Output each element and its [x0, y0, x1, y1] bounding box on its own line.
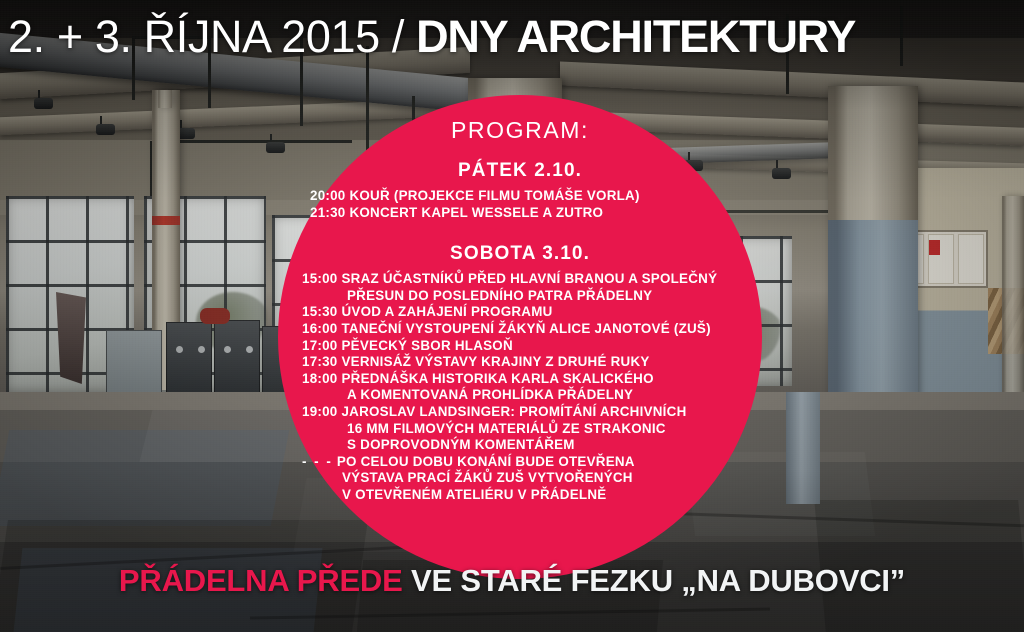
program-item-cont: S DOPROVODNÝM KOMENTÁŘEM	[302, 437, 740, 454]
red-object	[200, 308, 230, 324]
program-items-friday: 20:00 KOUŘ (PROJEKCE FILMU TOMÁŠE VORLA)…	[310, 188, 740, 221]
program-items-saturday: 15:00 SRAZ ÚČASTNÍKŮ PŘED HLAVNÍ BRANOU …	[302, 271, 740, 503]
cabinet-knob	[198, 346, 205, 353]
venue-location: VE STARÉ FEZKU „NA DUBOVCI”	[403, 563, 905, 598]
note-line: VÝSTAVA PRACÍ ŽÁKŮ ZUŠ VYTVOŘENÝCH	[302, 470, 740, 487]
program-item: 15:00 SRAZ ÚČASTNÍKŮ PŘED HLAVNÍ BRANOU …	[302, 271, 740, 288]
ceiling-lamp	[96, 124, 115, 135]
day-title-friday: PÁTEK 2.10.	[300, 160, 740, 182]
ceiling-lamp	[772, 168, 791, 179]
vitrine-red-notice	[929, 240, 940, 255]
program-item-cont: 16 MM FILMOVÝCH MATERIÁLŮ ZE STRAKONIC	[302, 421, 740, 438]
concrete-column	[158, 90, 172, 108]
concrete-column	[828, 86, 918, 406]
cabinet-knob	[224, 346, 231, 353]
program-item-cont: A KOMENTOVANÁ PROHLÍDKA PŘÁDELNY	[302, 387, 740, 404]
note-line: V OTEVŘENÉM ATELIÉRU V PŘÁDELNĚ	[302, 487, 740, 504]
program-item: 16:00 TANEČNÍ VYSTOUPENÍ ŽÁKYŇ ALICE JAN…	[302, 321, 740, 338]
program-item: 18:00 PŘEDNÁŠKA HISTORIKA KARLA SKALICKÉ…	[302, 371, 740, 388]
program-item-cont: PŘESUN DO POSLEDNÍHO PATRA PŘÁDELNY	[302, 288, 740, 305]
cabinet-knob	[176, 346, 183, 353]
program-item: 19:00 JAROSLAV LANDSINGER: PROMÍTÁNÍ ARC…	[302, 404, 740, 421]
program-item: 17:00 PĚVECKÝ SBOR HLASOŇ	[302, 338, 740, 355]
column-red-band	[152, 216, 180, 225]
day-title-saturday: SOBOTA 3.10.	[300, 243, 740, 265]
program-item: 21:30 KONCERT KAPEL WESSELE A ZUTRO	[310, 205, 740, 222]
hanging-cloth	[56, 292, 86, 384]
headline-date: 2. + 3. ŘÍJNA 2015 /	[8, 11, 416, 62]
poster: 2. + 3. ŘÍJNA 2015 / DNY ARCHITEKTURY PR…	[0, 0, 1024, 632]
note-bullet: - - -	[302, 454, 333, 469]
program-heading: PROGRAM:	[300, 117, 740, 144]
foreground-post	[786, 392, 820, 504]
venue-line: PŘÁDELNA PŘEDE VE STARÉ FEZKU „NA DUBOVC…	[0, 563, 1024, 599]
program-note: - - - PO CELOU DOBU KONÁNÍ BUDE OTEVŘENA	[302, 454, 740, 471]
concrete-column	[1002, 196, 1024, 396]
page-title: 2. + 3. ŘÍJNA 2015 / DNY ARCHITEKTURY	[8, 14, 1018, 59]
headline-event: DNY ARCHITEKTURY	[416, 11, 855, 62]
venue-name: PŘÁDELNA PŘEDE	[119, 563, 403, 598]
program-content: PROGRAM: PÁTEK 2.10. 20:00 KOUŘ (PROJEKC…	[278, 117, 762, 504]
column-skirt	[828, 220, 918, 406]
program-item: 15:30 ÚVOD A ZAHÁJENÍ PROGRAMU	[302, 304, 740, 321]
program-disc: PROGRAM: PÁTEK 2.10. 20:00 KOUŘ (PROJEKC…	[278, 95, 762, 579]
cabinet-knob	[246, 346, 253, 353]
program-item: 17:30 VERNISÁŽ VÝSTAVY KRAJINY Z DRUHÉ R…	[302, 354, 740, 371]
note-line: PO CELOU DOBU KONÁNÍ BUDE OTEVŘENA	[337, 454, 635, 469]
program-item: 20:00 KOUŘ (PROJEKCE FILMU TOMÁŠE VORLA)	[310, 188, 740, 205]
ceiling-lamp	[34, 98, 53, 109]
vitrine-sheet	[958, 234, 984, 284]
